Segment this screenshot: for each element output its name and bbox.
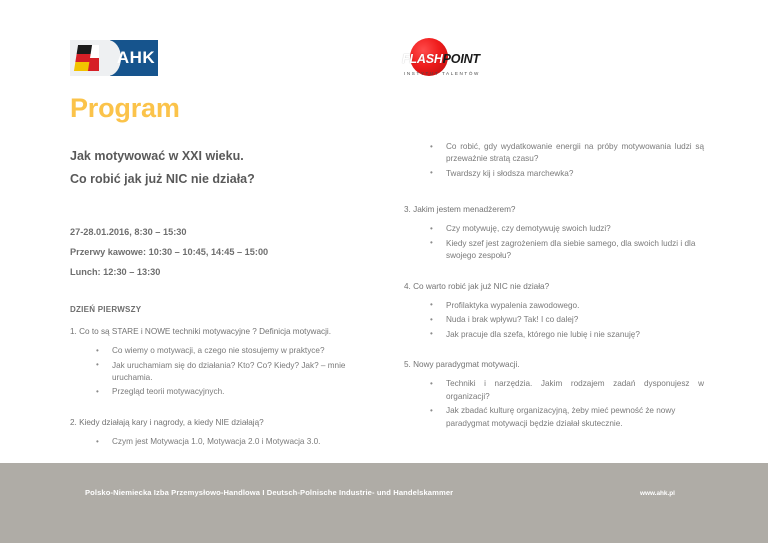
ahk-logo: AHK [70,40,158,76]
flash-point-word-point: POINT [443,52,480,66]
ahk-logo-text: AHK [113,48,155,68]
section-bullet-list: Co wiemy o motywacji, a czego nie stosuj… [70,345,360,399]
list-item: Kiedy szef jest zagrożeniem dla siebie s… [446,238,704,263]
event-coffee-breaks: Przerwy kawowe: 10:30 – 10:45, 14:45 – 1… [70,242,370,262]
event-lunch: Lunch: 12:30 – 13:30 [70,262,370,282]
continued-bullet-list: Co robić, gdy wydatkowanie energii na pr… [404,141,704,180]
list-item: Techniki i narzędzia. Jakim rodzajem zad… [446,378,704,403]
page-subtitle: Jak motywować w XXI wieku. Co robić jak … [70,145,370,191]
day-heading: DZIEŃ PIERWSZY [70,305,360,314]
program-section: 5. Nowy paradygmat motywacji. Techniki i… [404,359,704,430]
footer-organization: Polsko-Niemiecka Izba Przemysłowo-Handlo… [85,488,453,497]
program-section: 2. Kiedy działają kary i nagrody, a kied… [70,417,360,449]
section-heading: 5. Nowy paradygmat motywacji. [404,359,704,370]
flash-point-wordmark: FLASHPOINT [402,52,480,66]
program-column-left: DZIEŃ PIERWSZY 1. Co to są STARE i NOWE … [70,305,360,450]
section-bullet-list: Czym jest Motywacja 1.0, Motywacja 2.0 i… [70,436,360,448]
section-heading: 4. Co warto robić jak już NIC nie działa… [404,281,704,292]
program-column-right: Co robić, gdy wydatkowanie energii na pr… [404,141,704,432]
list-item: Twardszy kij i słodsza marchewka? [446,168,704,180]
section-heading: 1. Co to są STARE i NOWE techniki motywa… [70,326,360,337]
list-item: Czy motywuję, czy demotywuję swoich ludz… [446,223,704,235]
program-section: 1. Co to są STARE i NOWE techniki motywa… [70,326,360,399]
list-item: Profilaktyka wypalenia zawodowego. [446,300,704,312]
page-title: Program [70,93,180,124]
list-item: Jak zbadać kulturę organizacyjną, żeby m… [446,405,704,430]
event-meta: 27-28.01.2016, 8:30 – 15:30 Przerwy kawo… [70,222,370,283]
slide-canvas: AHK FLASHPOINT INSTYTUT TALENTÓW Program… [0,0,768,543]
section-bullet-list: Profilaktyka wypalenia zawodowego. Nuda … [404,300,704,341]
flash-point-logo: FLASHPOINT INSTYTUT TALENTÓW [402,38,482,80]
subtitle-line-2: Co robić jak już NIC nie działa? [70,168,370,191]
footer-band [0,463,768,543]
list-item: Jak uruchamiam się do działania? Kto? Co… [112,360,360,385]
section-bullet-list: Czy motywuję, czy demotywuję swoich ludz… [404,223,704,262]
flash-point-word-flash: FLASH [402,52,443,66]
list-item: Jak pracuje dla szefa, którego nie lubię… [446,329,704,341]
program-section: 3. Jakim jestem menadżerem? Czy motywuję… [404,204,704,262]
list-item: Co robić, gdy wydatkowanie energii na pr… [446,141,704,166]
flash-point-tagline: INSTYTUT TALENTÓW [404,71,480,76]
ahk-logo-box: AHK [110,40,158,76]
section-bullet-list: Techniki i narzędzia. Jakim rodzajem zad… [404,378,704,430]
event-date-time: 27-28.01.2016, 8:30 – 15:30 [70,222,370,242]
section-heading: 3. Jakim jestem menadżerem? [404,204,704,215]
list-item: Nuda i brak wpływu? Tak! I co dalej? [446,314,704,326]
list-item: Przegląd teorii motywacyjnych. [112,386,360,398]
program-section: 4. Co warto robić jak już NIC nie działa… [404,281,704,341]
section-heading: 2. Kiedy działają kary i nagrody, a kied… [70,417,360,428]
subtitle-line-1: Jak motywować w XXI wieku. [70,145,370,168]
footer-website[interactable]: www.ahk.pl [640,490,675,497]
list-item: Co wiemy o motywacji, a czego nie stosuj… [112,345,360,357]
list-item: Czym jest Motywacja 1.0, Motywacja 2.0 i… [112,436,360,448]
